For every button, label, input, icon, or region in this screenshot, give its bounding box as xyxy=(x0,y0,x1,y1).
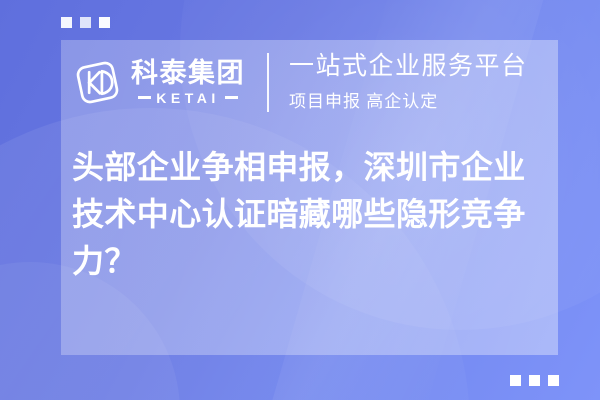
tagline-block: 一站式企业服务平台 项目申报 高企认定 xyxy=(289,52,528,112)
decorative-square-icon xyxy=(548,375,559,386)
tagline-main: 一站式企业服务平台 xyxy=(289,52,528,82)
brand-name-cn: 科泰集团 xyxy=(131,60,245,87)
brand-lockup: 科泰集团 KETAI xyxy=(61,58,245,107)
header-vertical-divider xyxy=(267,53,269,112)
decorative-squares-bottom-right xyxy=(510,375,559,386)
tagline-sub: 项目申报 高企认定 xyxy=(289,87,528,112)
brand-rule-right-icon xyxy=(225,96,238,99)
content-panel: 科泰集团 KETAI 一站式企业服务平台 项目申报 高企认定 头部企业争相申报，… xyxy=(61,40,558,355)
decorative-square-icon xyxy=(80,17,91,28)
decorative-squares-top-left xyxy=(61,17,110,28)
decorative-square-icon xyxy=(510,375,521,386)
decorative-square-icon xyxy=(529,375,540,386)
ketai-diamond-kd-monogram-icon xyxy=(73,58,122,107)
headline-text: 头部企业争相申报，深圳市企业技术中心认证暗藏哪些隐形竞争力？ xyxy=(61,144,558,285)
brand-name-en-row: KETAI xyxy=(138,91,237,105)
decorative-square-icon xyxy=(99,17,110,28)
promo-banner: 科泰集团 KETAI 一站式企业服务平台 项目申报 高企认定 头部企业争相申报，… xyxy=(0,0,600,400)
banner-header: 科泰集团 KETAI 一站式企业服务平台 项目申报 高企认定 xyxy=(61,40,558,124)
brand-name-en: KETAI xyxy=(156,91,219,105)
brand-wordmark: 科泰集团 KETAI xyxy=(131,60,245,105)
brand-rule-left-icon xyxy=(138,96,151,99)
decorative-square-icon xyxy=(61,17,72,28)
